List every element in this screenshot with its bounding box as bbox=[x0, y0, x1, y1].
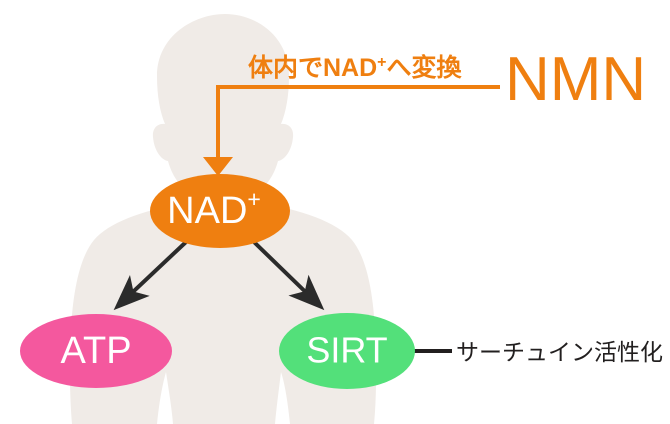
diagram-canvas: 体内でNAD+へ変換 NMN ATP SIRT NAD+ サーチュイン活性化 bbox=[0, 0, 670, 424]
nad-label: NAD+ bbox=[167, 186, 261, 232]
conversion-label-main: 体内でNAD bbox=[248, 54, 377, 82]
node-nad[interactable]: NAD+ bbox=[150, 174, 290, 248]
sirt-label: SIRT bbox=[306, 330, 387, 371]
node-atp[interactable]: ATP bbox=[20, 314, 172, 388]
conversion-label-superscript: + bbox=[377, 54, 386, 71]
sirtuin-activation-label: サーチュイン活性化 bbox=[456, 339, 663, 365]
conversion-label-tail: へ変換 bbox=[387, 53, 463, 82]
nmn-pathway-diagram: 体内でNAD+へ変換 NMN ATP SIRT NAD+ サーチュイン活性化 bbox=[0, 0, 670, 424]
nad-label-superscript: + bbox=[247, 186, 260, 212]
conversion-label: 体内でNAD+へ変換 bbox=[248, 53, 463, 82]
node-sirt[interactable]: SIRT bbox=[279, 313, 415, 389]
atp-label: ATP bbox=[60, 330, 131, 372]
nmn-title: NMN bbox=[505, 45, 646, 114]
nad-label-main: NAD bbox=[167, 190, 247, 232]
